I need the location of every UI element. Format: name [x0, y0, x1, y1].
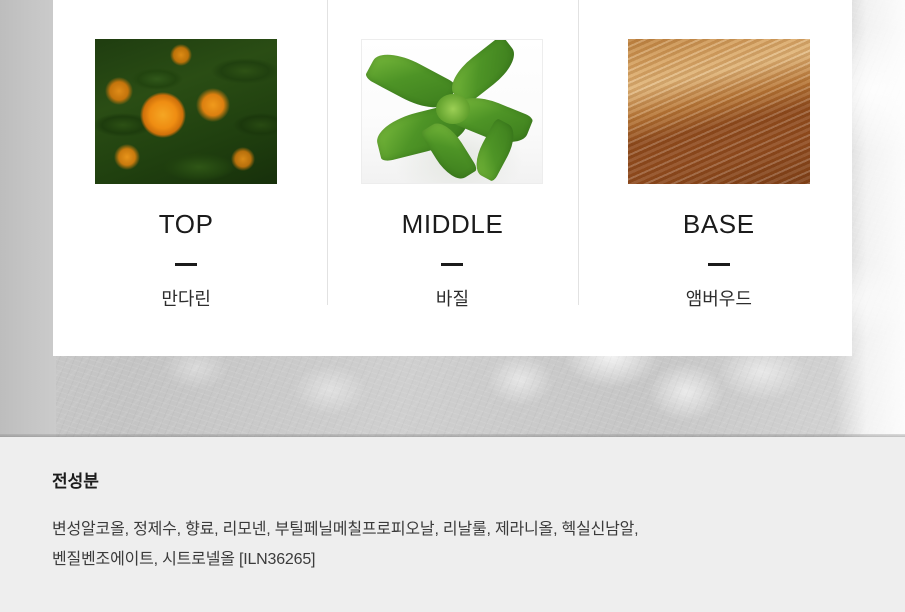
ingredients-text: 변성알코올, 정제수, 향료, 리모넨, 부틸페닐메칠프로피오날, 리날룰, 제… — [52, 515, 852, 575]
note-column-top: TOP 만다린 — [53, 0, 319, 356]
amberwood-image-content — [628, 39, 810, 184]
basil-image-content — [362, 40, 542, 183]
note-title-base: BASE — [683, 211, 755, 237]
amberwood-photo — [628, 39, 810, 184]
note-column-middle: MIDDLE 바질 — [319, 0, 585, 356]
fragrance-notes-card: TOP 만다린 MIDDLE 바질 — [53, 0, 852, 356]
basil-photo — [361, 39, 543, 184]
note-title-middle: MIDDLE — [402, 211, 504, 237]
note-name-middle: 바질 — [436, 290, 469, 308]
ingredients-title: 전성분 — [52, 473, 99, 490]
note-rule-base — [708, 263, 730, 266]
mandarin-photo — [95, 39, 277, 184]
note-column-base: BASE 앰버우드 — [586, 0, 852, 356]
note-name-base: 앰버우드 — [686, 290, 752, 308]
fragrance-notes-row: TOP 만다린 MIDDLE 바질 — [53, 0, 852, 356]
note-rule-top — [175, 263, 197, 266]
note-name-top: 만다린 — [161, 290, 211, 308]
ingredients-section: 전성분 변성알코올, 정제수, 향료, 리모넨, 부틸페닐메칠프로피오날, 리날… — [0, 437, 905, 612]
column-divider-2 — [578, 0, 579, 305]
mandarin-image-content — [95, 39, 277, 184]
note-title-top: TOP — [159, 211, 214, 237]
column-divider-1 — [327, 0, 328, 305]
stone-left-shadow — [0, 0, 56, 437]
note-rule-middle — [441, 263, 463, 266]
